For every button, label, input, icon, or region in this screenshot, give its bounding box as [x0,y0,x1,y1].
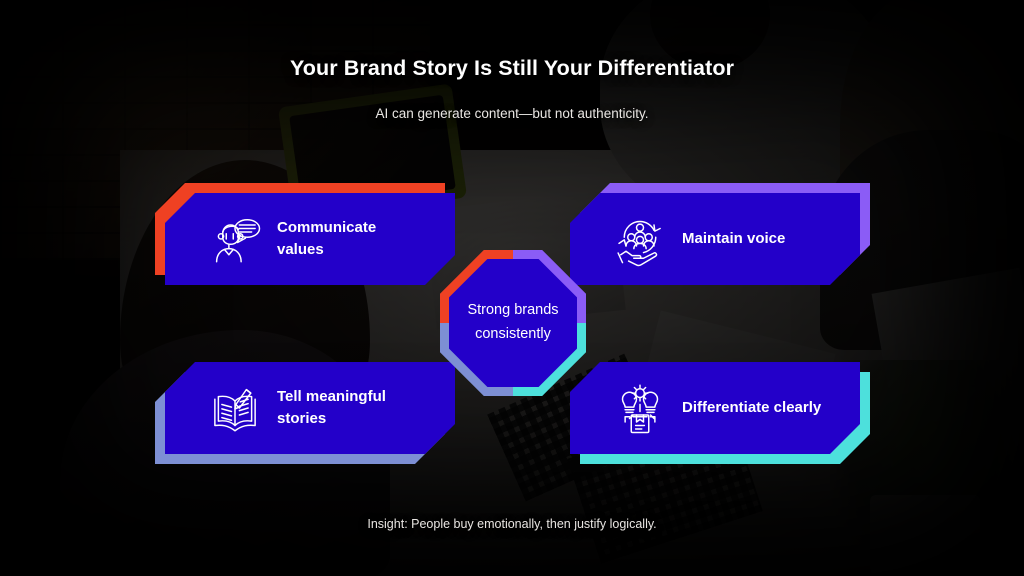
hand-holding-people-group-icon [612,211,668,267]
page-title: Your Brand Story Is Still Your Different… [0,56,1024,81]
card-differentiate-clearly[interactable]: Differentiate clearly [570,362,860,454]
card-label: Maintain voice [682,228,785,251]
card-label: Tell meaningful stories [277,386,427,431]
slide-canvas: Your Brand Story Is Still Your Different… [0,0,1024,576]
open-book-pen-icon [207,380,263,436]
card-maintain-voice[interactable]: Maintain voice [570,193,860,285]
hub-octagon[interactable]: Strong brands consistently [440,250,586,396]
card-tell-meaningful-stories[interactable]: Tell meaningful stories [165,362,455,454]
card-label: Communicate values [277,217,427,262]
card-communicate-values[interactable]: Communicate values [165,193,455,285]
page-subtitle: AI can generate content—but not authenti… [0,106,1024,121]
card-label: Differentiate clearly [682,397,821,420]
hub-label: Strong brands consistently [440,250,586,396]
lightbulbs-gear-document-icon [612,380,668,436]
footer-insight: Insight: People buy emotionally, then ju… [0,517,1024,531]
person-speech-bubble-icon [207,211,263,267]
